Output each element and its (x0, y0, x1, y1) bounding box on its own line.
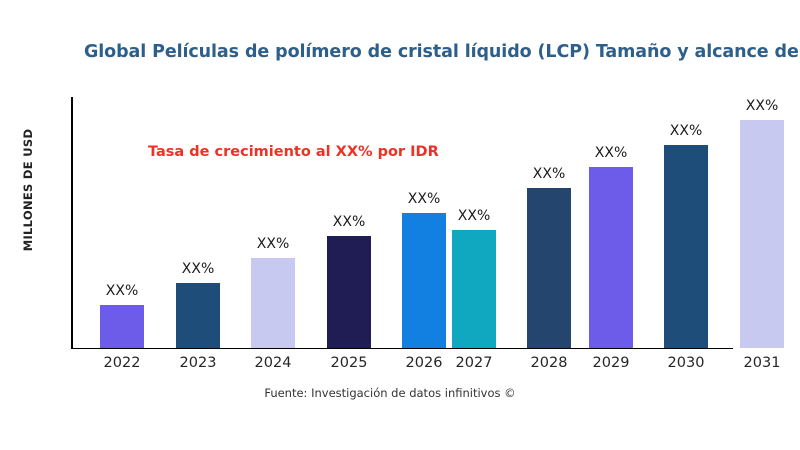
bar-2022 (100, 305, 144, 348)
bar-2023 (176, 283, 220, 348)
bar-value-label-2027: XX% (458, 208, 490, 224)
bar-2027 (452, 230, 496, 348)
bar-2031 (740, 120, 784, 348)
bar-value-label-2025: XX% (333, 214, 365, 230)
x-tick-label-2024: 2024 (233, 355, 313, 371)
x-axis-line (71, 348, 733, 350)
bar-value-label-2030: XX% (670, 123, 702, 139)
x-tick-label-2025: 2025 (309, 355, 389, 371)
source-note: Fuente: Investigación de datos infinitiv… (0, 386, 780, 400)
bar-2030 (664, 145, 708, 348)
bar-2026 (402, 213, 446, 348)
bar-value-label-2028: XX% (533, 166, 565, 182)
bar-value-label-2022: XX% (106, 283, 138, 299)
bar-2024 (251, 258, 295, 348)
growth-rate-annotation: Tasa de crecimiento al XX% por IDR (148, 144, 439, 160)
y-axis-line (71, 97, 73, 349)
plot-area: XX%2022XX%2023XX%2024XX%2025XX%2026XX%20… (0, 0, 800, 450)
x-tick-label-2029: 2029 (571, 355, 651, 371)
bar-value-label-2024: XX% (257, 236, 289, 252)
bar-value-label-2026: XX% (408, 191, 440, 207)
x-tick-label-2022: 2022 (82, 355, 162, 371)
x-tick-label-2031: 2031 (722, 355, 800, 371)
x-tick-label-2023: 2023 (158, 355, 238, 371)
x-tick-label-2030: 2030 (646, 355, 726, 371)
bar-2028 (527, 188, 571, 348)
x-tick-label-2027: 2027 (434, 355, 514, 371)
bar-value-label-2023: XX% (182, 261, 214, 277)
bar-2025 (327, 236, 371, 348)
chart-container: Global Películas de polímero de cristal … (0, 0, 800, 450)
bar-2029 (589, 167, 633, 348)
bar-value-label-2029: XX% (595, 145, 627, 161)
bar-value-label-2031: XX% (746, 98, 778, 114)
